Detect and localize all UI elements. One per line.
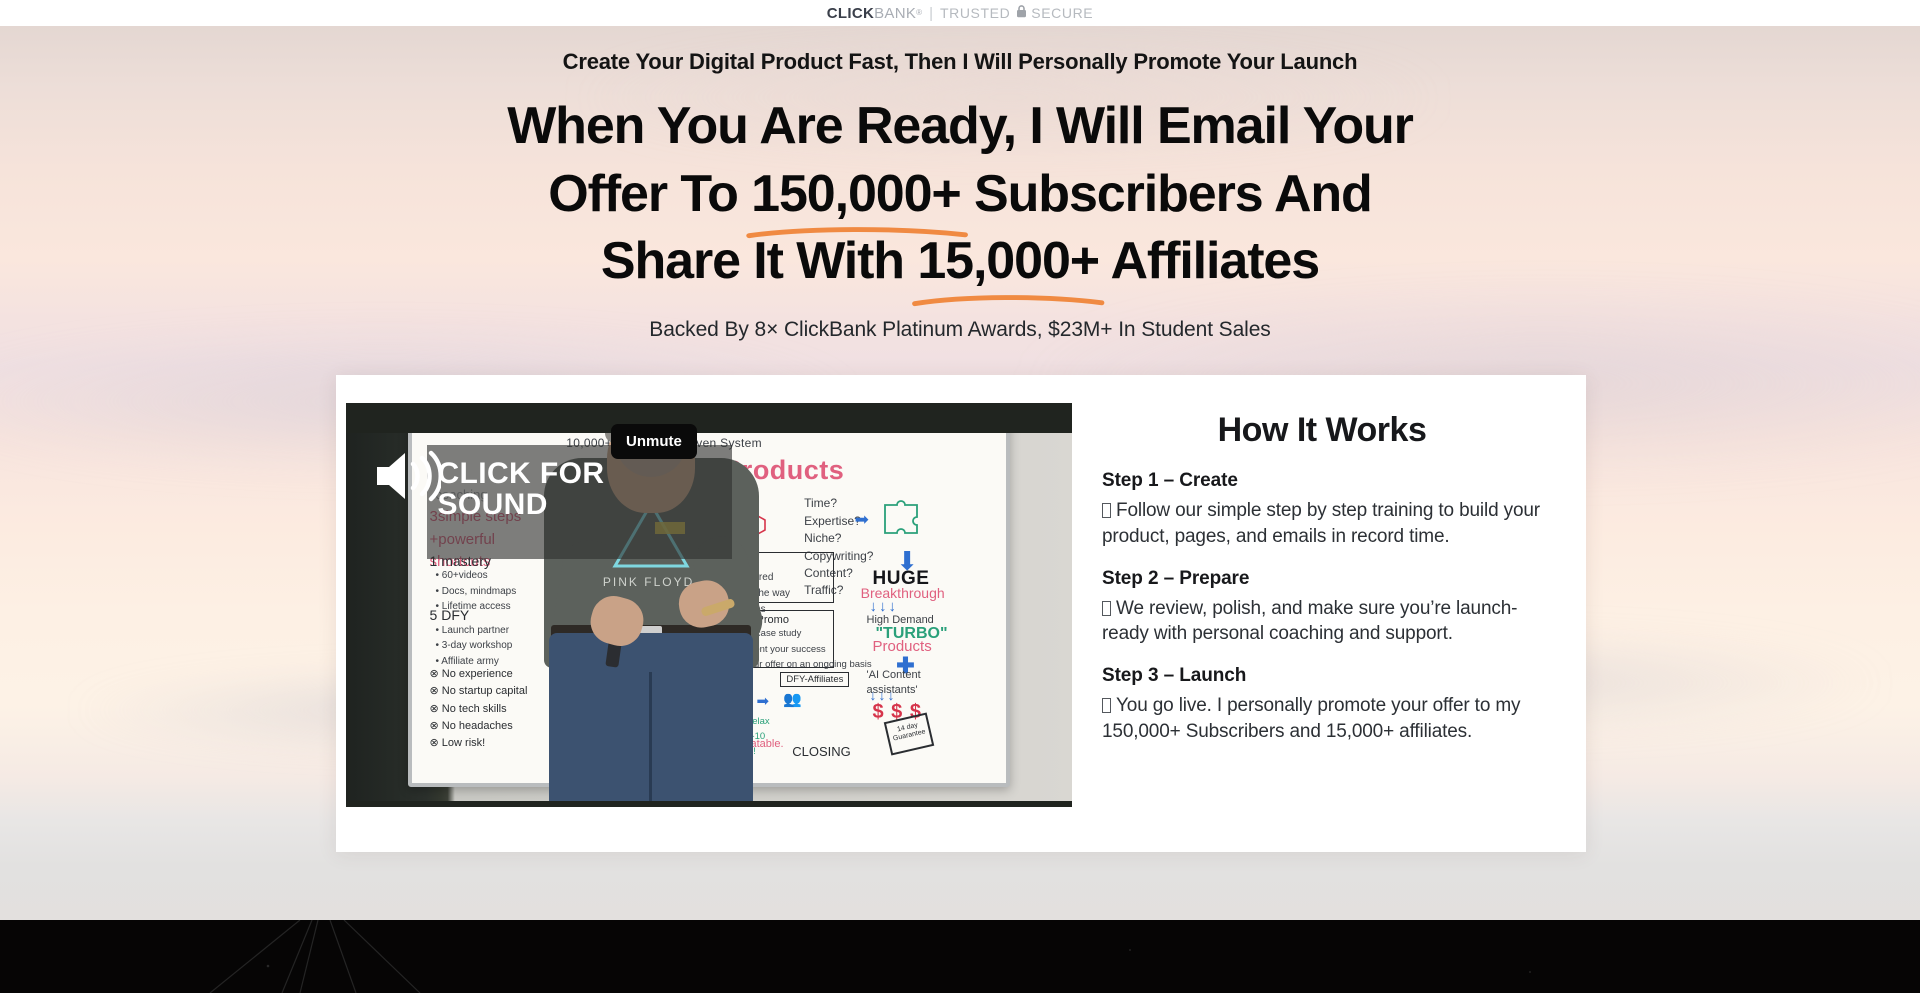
hero-eyebrow: Create Your Digital Product Fast, Then I…: [0, 49, 1920, 75]
step-item: Step 3 – Launch You go live. I personall…: [1102, 665, 1542, 745]
headline-highlight-affiliates: 15,000+: [917, 228, 1099, 296]
missing-glyph-icon: [1102, 503, 1111, 518]
presenter-jeans: [549, 633, 753, 807]
hero-card: 10,000+ units sold. Proven System DFY Di…: [336, 375, 1586, 852]
step-3-text: You go live. I personally promote your o…: [1102, 695, 1520, 742]
presenter-shirt-text: PINK FLOYD: [603, 575, 694, 589]
highlight-text-15k: 15,000+: [917, 232, 1099, 290]
hero-subheadline: Backed By 8× ClickBank Platinum Awards, …: [0, 318, 1920, 342]
registered-mark: ®: [916, 9, 922, 17]
headline-line-1: When You Are Ready, I Will Email Your: [0, 93, 1920, 161]
headline-line-3-pre: Share It With: [601, 232, 917, 290]
people-group-icon: 👥: [783, 690, 802, 708]
clickbank-trust-bar: CLICKBANK® | TRUSTED SECURE: [0, 0, 1920, 26]
how-it-works-column: How It Works Step 1 – Create Follow our …: [1072, 375, 1586, 852]
light-rays-decoration: [0, 920, 1920, 993]
headline-line-2-post: Subscribers And: [961, 165, 1372, 223]
step-3-title: Step 3 – Launch: [1102, 665, 1542, 687]
headline-line-2-pre: Offer To: [548, 165, 751, 223]
secure-label: SECURE: [1031, 6, 1093, 20]
bottom-dark-section: [0, 920, 1920, 993]
step-2-body: We review, polish, and make sure you’re …: [1102, 596, 1542, 648]
unmute-tooltip[interactable]: Unmute: [611, 424, 697, 459]
whiteboard-step5-title: 5 DFY: [430, 608, 470, 624]
video-letterbox-bottom: [346, 801, 1072, 807]
video-letterbox-top: [346, 403, 1072, 433]
step-3-body: You go live. I personally promote your o…: [1102, 693, 1542, 745]
clickbank-badge: CLICKBANK® | TRUSTED SECURE: [827, 5, 1093, 22]
missing-glyph-icon: [1102, 601, 1111, 616]
whiteboard-closing: CLOSING: [792, 745, 851, 760]
highlight-text-150k: 150,000+: [751, 165, 961, 223]
video-column: 10,000+ units sold. Proven System DFY Di…: [336, 375, 1072, 852]
headline-line-3-post: Affiliates: [1099, 232, 1319, 290]
headline-highlight-subscribers: 150,000+: [751, 161, 961, 229]
page-title: When You Are Ready, I Will Email Your Of…: [0, 93, 1920, 296]
blue-arrow-icon-1: ➡: [855, 510, 869, 530]
step-2-title: Step 2 – Prepare: [1102, 568, 1542, 590]
click-for-sound-line2: SOUND: [437, 489, 604, 520]
orange-underline-stroke-2: [911, 293, 1107, 309]
how-it-works-title: How It Works: [1102, 411, 1542, 450]
missing-glyph-icon: [1102, 698, 1111, 713]
step-1-text: Follow our simple step by step training …: [1102, 500, 1540, 547]
trusted-label: TRUSTED: [940, 6, 1010, 20]
headline-line-2: Offer To 150,000+ Subscribers And: [0, 161, 1920, 229]
video-player[interactable]: 10,000+ units sold. Proven System DFY Di…: [346, 403, 1072, 807]
clickbank-brand-bold: CLICK: [827, 6, 874, 21]
puzzle-piece-icon: [881, 499, 921, 535]
headline-line-3: Share It With 15,000+ Affiliates: [0, 228, 1920, 296]
step-2-text: We review, polish, and make sure you’re …: [1102, 598, 1517, 645]
speaker-volume-icon[interactable]: [371, 447, 441, 505]
click-for-sound-overlay[interactable]: CLICK FOR SOUND: [437, 458, 604, 520]
clickbank-brand-light: BANK: [874, 6, 916, 21]
badge-divider: |: [929, 6, 933, 21]
step-item: Step 1 – Create Follow our simple step b…: [1102, 470, 1542, 550]
whiteboard-step5-items: • Launch partner • 3-day workshop • Affi…: [435, 623, 512, 670]
whiteboard-dfy-affiliates: DFY-Affiliates: [780, 672, 849, 687]
click-for-sound-line1: CLICK FOR: [437, 458, 604, 489]
step-1-body: Follow our simple step by step training …: [1102, 498, 1542, 550]
step-item: Step 2 – Prepare We review, polish, and …: [1102, 568, 1542, 648]
step-1-title: Step 1 – Create: [1102, 470, 1542, 492]
lock-icon: [1016, 5, 1027, 22]
whiteboard-no-list: ⊗ No experience ⊗ No startup capital ⊗ N…: [430, 666, 528, 751]
